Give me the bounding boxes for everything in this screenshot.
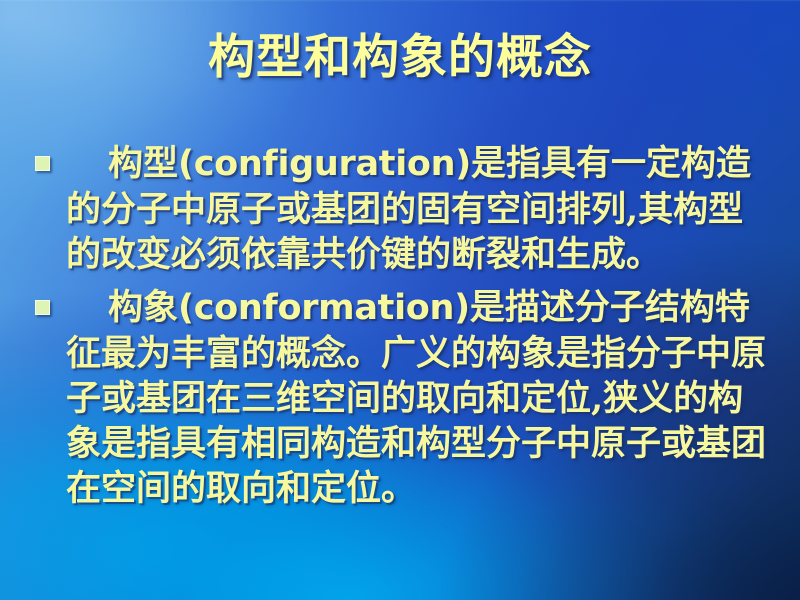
bullet-item: 构型(configuration)是指具有一定构造的分子中原子或基团的固有空间排… xyxy=(24,141,778,277)
square-bullet-icon xyxy=(35,156,50,171)
bullet-lead-chinese: 构象 xyxy=(108,287,178,328)
bullet-lead-latin: (configuration) xyxy=(178,144,471,184)
presentation-slide: 构型和构象的概念 构型(configuration)是指具有一定构造的分子中原子… xyxy=(0,0,800,600)
square-bullet-icon xyxy=(35,300,50,315)
bullet-paragraph: 构型(configuration)是指具有一定构造的分子中原子或基团的固有空间排… xyxy=(66,141,778,277)
bullet-item: 构象(conformation)是描述分子结构特征最为丰富的概念。广义的构象是指… xyxy=(24,285,778,511)
slide-body: 构型(configuration)是指具有一定构造的分子中原子或基团的固有空间排… xyxy=(24,141,778,519)
slide-content: 构型和构象的概念 构型(configuration)是指具有一定构造的分子中原子… xyxy=(0,0,800,600)
bullet-lead-latin: (conformation) xyxy=(178,288,470,328)
slide-title: 构型和构象的概念 xyxy=(0,29,800,87)
bullet-lead-chinese: 构型 xyxy=(108,143,178,184)
bullet-paragraph: 构象(conformation)是描述分子结构特征最为丰富的概念。广义的构象是指… xyxy=(66,285,778,511)
